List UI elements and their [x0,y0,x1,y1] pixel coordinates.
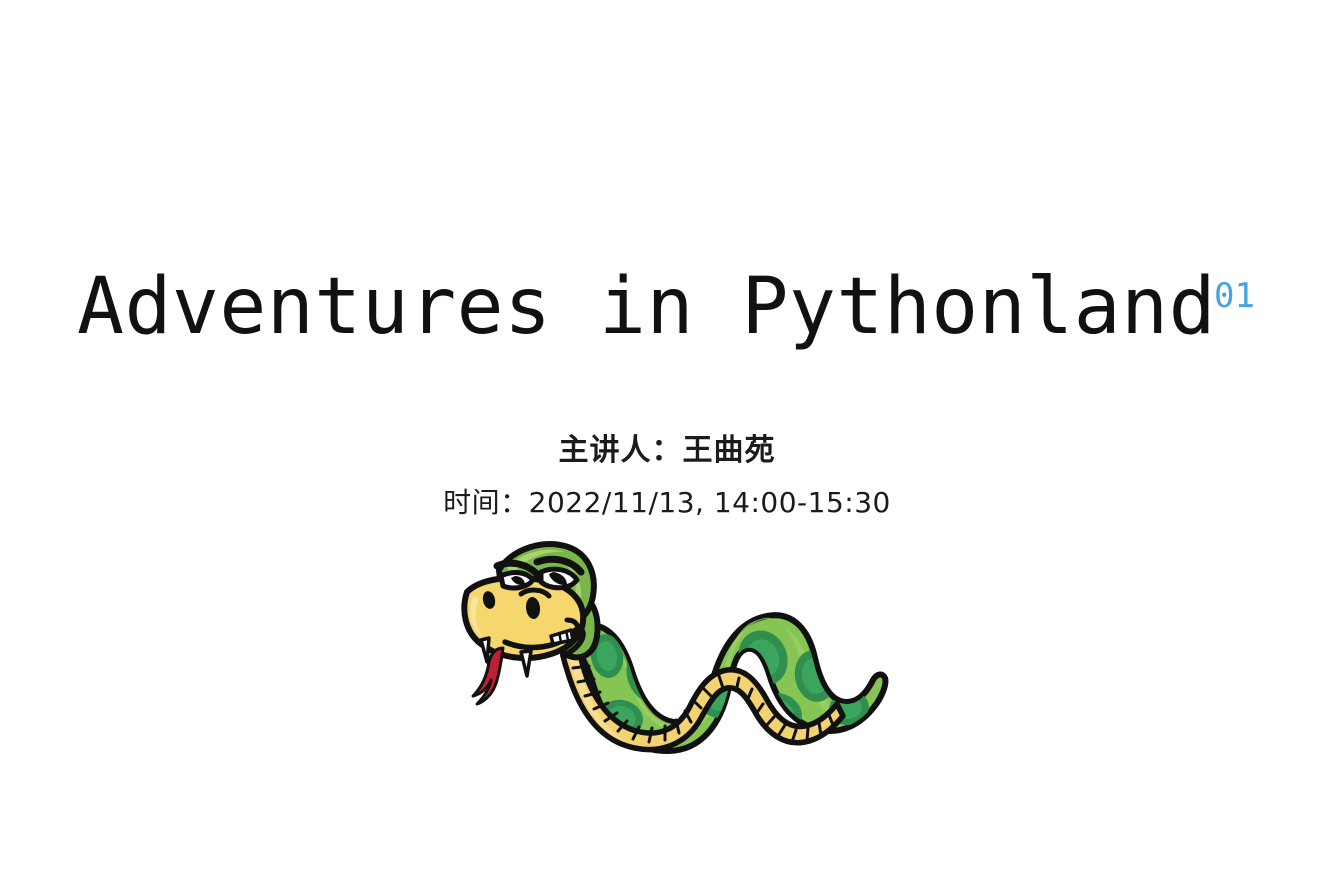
snake-icon [455,528,895,758]
time-label: 时间：2022/11/13, 14:00-15:30 [0,481,1334,521]
speaker-label: 主讲人：王曲苑 [0,425,1334,469]
title-superscript-number: 01 [1214,276,1255,316]
slide-canvas: Adventures in Pythonland01 主讲人：王曲苑 时间：20… [0,0,1334,889]
page-title: Adventures in Pythonland01 [0,268,1334,346]
title-text: Adventures in Pythonland [77,262,1216,352]
python-snake-illustration [455,528,895,758]
